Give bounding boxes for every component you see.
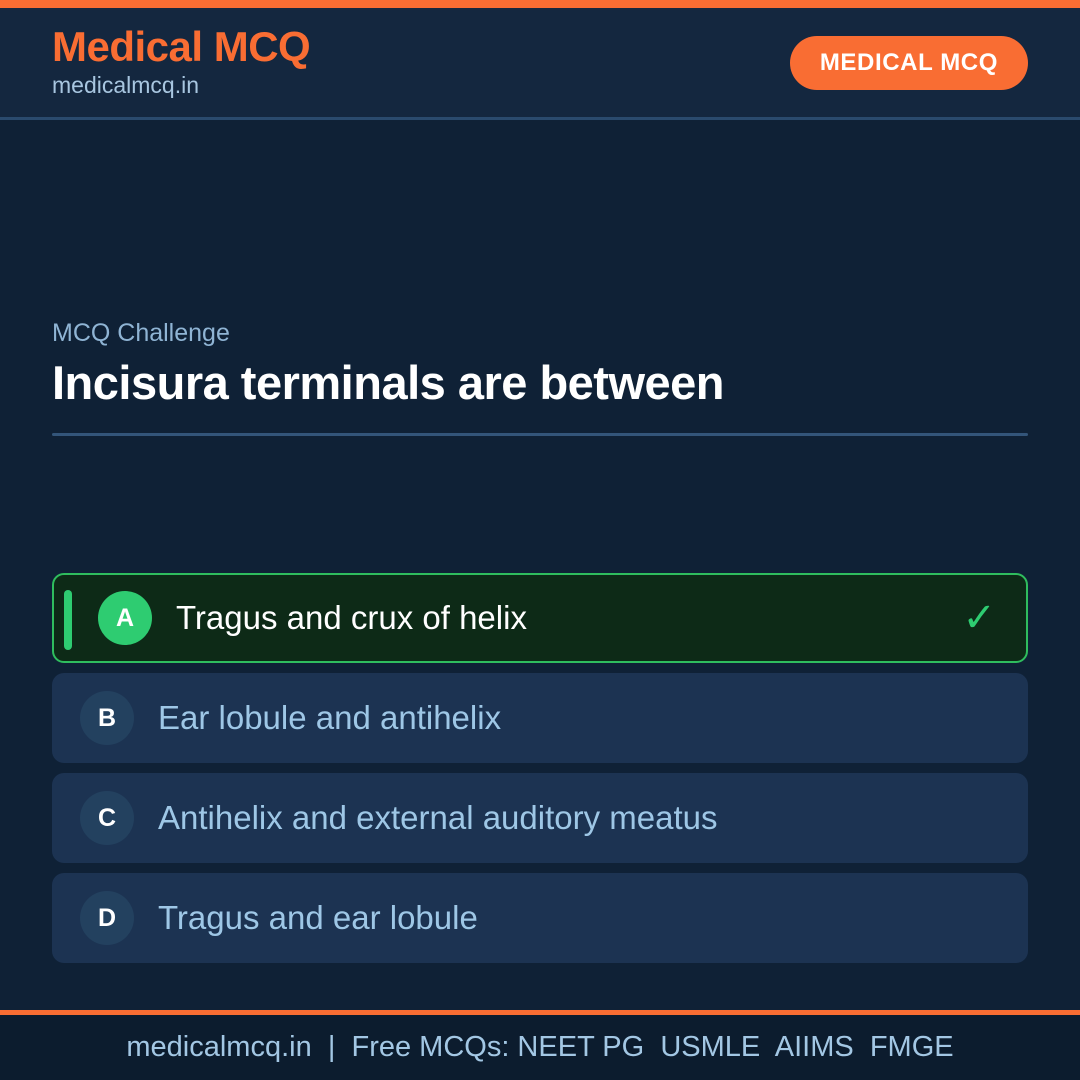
brand-block: Medical MCQ medicalmcq.in: [52, 25, 310, 101]
options-list: A Tragus and crux of helix ✓ B Ear lobul…: [52, 573, 1028, 963]
main-content: MCQ Challenge Incisura terminals are bet…: [0, 123, 1080, 1035]
footer-text: medicalmcq.in | Free MCQs: NEET PG USMLE…: [126, 1031, 953, 1064]
brand-title: Medical MCQ: [52, 25, 310, 69]
option-c[interactable]: C Antihelix and external auditory meatus: [52, 773, 1028, 863]
correct-accent-bar: [64, 590, 72, 650]
option-letter-badge: A: [98, 591, 152, 645]
option-label: Tragus and crux of helix: [176, 599, 527, 637]
question-block: MCQ Challenge Incisura terminals are bet…: [52, 318, 1028, 436]
option-letter-badge: C: [80, 791, 134, 845]
page-footer: medicalmcq.in | Free MCQs: NEET PG USMLE…: [0, 1010, 1080, 1080]
option-b[interactable]: B Ear lobule and antihelix: [52, 673, 1028, 763]
option-label: Antihelix and external auditory meatus: [158, 799, 718, 837]
question-eyebrow: MCQ Challenge: [52, 318, 1028, 348]
page-header: Medical MCQ medicalmcq.in MEDICAL MCQ: [0, 8, 1080, 120]
header-badge: MEDICAL MCQ: [790, 36, 1028, 90]
top-accent-strip: [0, 0, 1080, 8]
check-icon: ✓: [962, 598, 996, 638]
option-d[interactable]: D Tragus and ear lobule: [52, 873, 1028, 963]
option-label: Tragus and ear lobule: [158, 899, 478, 937]
option-letter-badge: D: [80, 891, 134, 945]
divider: [52, 433, 1028, 436]
option-label: Ear lobule and antihelix: [158, 699, 501, 737]
page-title: Incisura terminals are between: [52, 356, 1028, 409]
option-a[interactable]: A Tragus and crux of helix ✓: [52, 573, 1028, 663]
option-letter-badge: B: [80, 691, 134, 745]
brand-domain: medicalmcq.in: [52, 71, 310, 101]
